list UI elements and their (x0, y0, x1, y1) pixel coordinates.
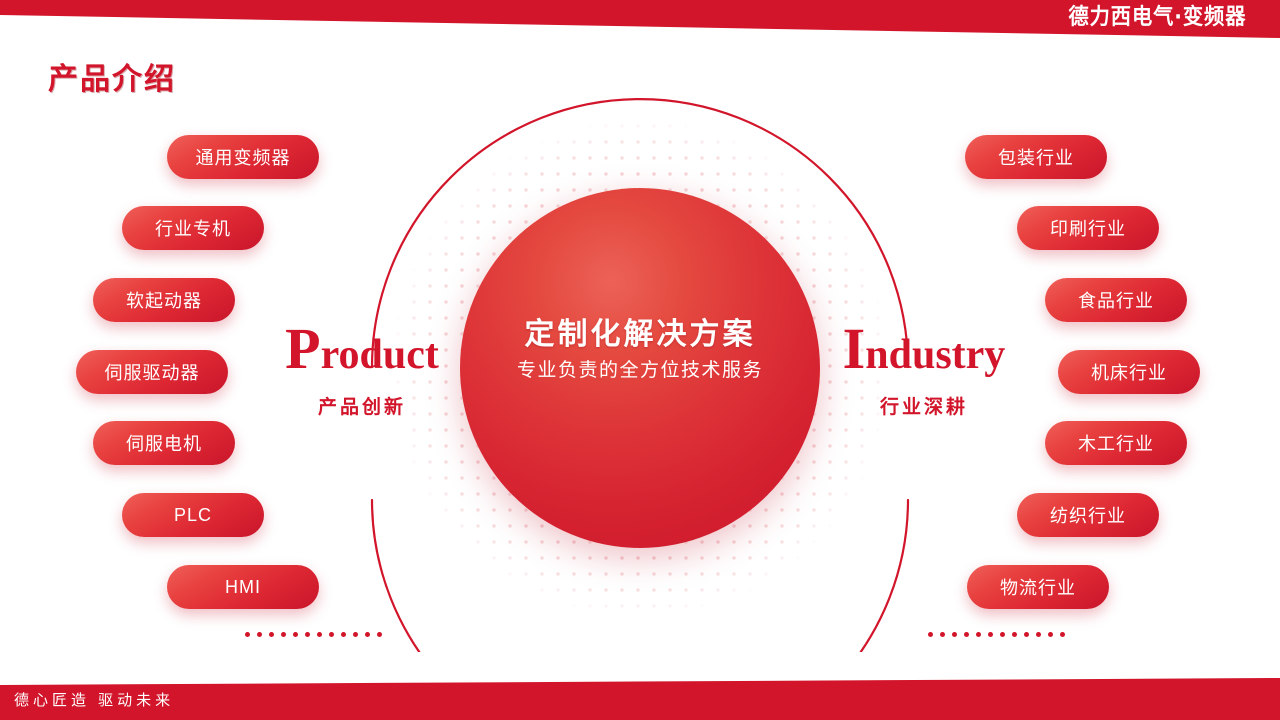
product-heading-rest: roduct (321, 332, 439, 378)
center-title: 定制化解决方案 (460, 316, 820, 354)
trail-dot (1024, 632, 1029, 637)
trail-dot (940, 632, 945, 637)
product-pill-1[interactable]: 通用变频器 (167, 135, 319, 179)
industry-pill-2[interactable]: 印刷行业 (1017, 206, 1159, 250)
page-title: 产品介绍 (48, 54, 176, 98)
product-pill-2[interactable]: 行业专机 (122, 206, 264, 250)
industry-pill-6[interactable]: 纺织行业 (1017, 493, 1159, 537)
product-pill-3[interactable]: 软起动器 (93, 278, 235, 322)
trail-dot (281, 632, 286, 637)
trail-dot (928, 632, 933, 637)
trail-dot (377, 632, 382, 637)
center-subtitle: 专业负责的全方位技术服务 (460, 356, 820, 386)
trail-dot (1036, 632, 1041, 637)
product-pill-4[interactable]: 伺服驱动器 (76, 350, 228, 394)
industry-heading-rest: ndustry (865, 332, 1005, 378)
industry-trail-dots (928, 632, 1065, 637)
product-heading-cn: 产品创新 (250, 392, 474, 419)
product-pill-6[interactable]: PLC (122, 493, 264, 537)
slide-canvas: 德力西电气·变频器 产品介绍 定制化解决方案 专业负责的全方位技术服务 Prod… (0, 0, 1280, 720)
product-pill-7[interactable]: HMI (167, 565, 319, 609)
trail-dot (317, 632, 322, 637)
trail-dot (305, 632, 310, 637)
trail-dot (257, 632, 262, 637)
trail-dot (952, 632, 957, 637)
trail-dot (341, 632, 346, 637)
trail-dot (988, 632, 993, 637)
industry-heading-initial: I (843, 316, 866, 381)
center-sphere: 定制化解决方案 专业负责的全方位技术服务 (460, 188, 820, 548)
trail-dot (293, 632, 298, 637)
footer-band (0, 678, 1280, 720)
industry-pill-5[interactable]: 木工行业 (1045, 421, 1187, 465)
trail-dot (1060, 632, 1065, 637)
industry-pill-3[interactable]: 食品行业 (1045, 278, 1187, 322)
industry-heading-cn: 行业深耕 (812, 392, 1036, 419)
industry-heading: Industry 行业深耕 (812, 320, 1036, 419)
trail-dot (365, 632, 370, 637)
footer-slogan: 德心匠造 驱动未来 (14, 689, 174, 710)
industry-heading-en: Industry (812, 320, 1036, 378)
trail-dot (329, 632, 334, 637)
trail-dot (269, 632, 274, 637)
trail-dot (245, 632, 250, 637)
product-pill-5[interactable]: 伺服电机 (93, 421, 235, 465)
trail-dot (1048, 632, 1053, 637)
trail-dot (976, 632, 981, 637)
industry-pill-7[interactable]: 物流行业 (967, 565, 1109, 609)
industry-pill-1[interactable]: 包装行业 (965, 135, 1107, 179)
center-sphere-text: 定制化解决方案 专业负责的全方位技术服务 (460, 316, 820, 386)
trail-dot (964, 632, 969, 637)
trail-dot (1000, 632, 1005, 637)
product-heading: Product 产品创新 (250, 320, 474, 419)
brand-logo: 德力西电气·变频器 (1068, 6, 1246, 30)
product-heading-initial: P (285, 316, 320, 381)
product-heading-en: Product (250, 320, 474, 378)
trail-dot (1012, 632, 1017, 637)
trail-dot (353, 632, 358, 637)
industry-pill-4[interactable]: 机床行业 (1058, 350, 1200, 394)
product-trail-dots (245, 632, 382, 637)
